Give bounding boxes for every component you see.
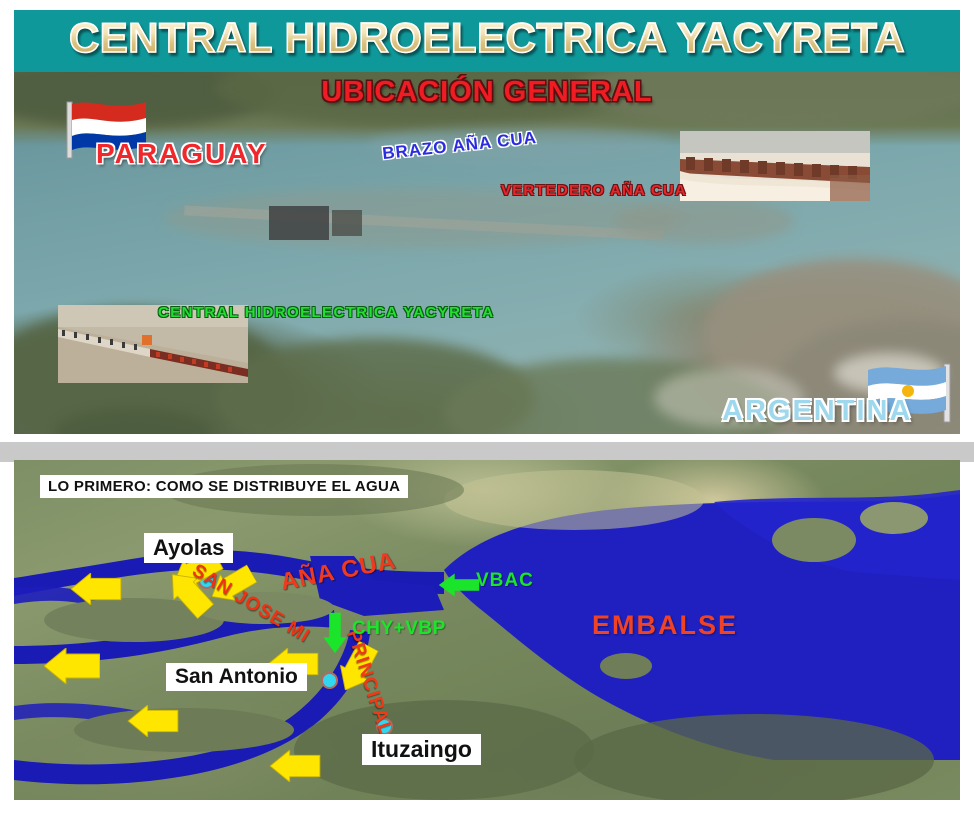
label-argentina: ARGENTINA (722, 395, 912, 428)
spillway-photo-art (680, 131, 870, 201)
arrow-vbac-left-icon (438, 572, 480, 598)
label-san-antonio: San Antonio (166, 663, 307, 691)
powerhouse-block (332, 210, 362, 236)
label-embalse: EMBALSE (592, 610, 738, 641)
flow-arrow-yellow (127, 705, 179, 737)
farmland-patch (444, 470, 704, 530)
bottom-distribution-panel: LO PRIMERO: COMO SE DISTRIBUYE EL AGUA A… (14, 460, 960, 800)
label-vbac: VBAC (476, 570, 534, 592)
reservoir-island (860, 502, 928, 534)
inset-photo-vertedero-ana-cua (680, 131, 870, 201)
label-ayolas: Ayolas (144, 533, 233, 563)
label-ituzaingo: Ituzaingo (362, 734, 481, 765)
reservoir-island (600, 653, 652, 679)
reservoir-island (772, 518, 856, 562)
label-vertedero-ana-cua: VERTEDERO AÑA CUA (501, 182, 687, 199)
flow-arrow-yellow (269, 750, 321, 782)
heading-distribucion-agua: LO PRIMERO: COMO SE DISTRIBUYE EL AGUA (40, 475, 408, 498)
spillway-texture (614, 198, 794, 244)
page-title: CENTRAL HIDROELECTRICA YACYRETA (14, 14, 960, 62)
presentation-slide: CENTRAL HIDROELECTRICA YACYRETA UBICACIÓ… (0, 0, 974, 822)
panel-divider (0, 442, 974, 462)
flow-arrow-yellow (70, 573, 122, 605)
label-chy-vbp: CHY+VBP (352, 618, 446, 640)
heading-ubicacion-general: UBICACIÓN GENERAL (14, 76, 960, 109)
label-paraguay: PARAGUAY (96, 138, 268, 170)
flow-arrow-yellow (44, 648, 100, 684)
water-network (14, 460, 960, 800)
top-satellite-panel: CENTRAL HIDROELECTRICA YACYRETA UBICACIÓ… (14, 10, 960, 434)
powerhouse-block (269, 206, 329, 240)
label-central-hidroelectrica-yacyreta: CENTRAL HIDROELECTRICA YACYRETA (158, 304, 494, 321)
sand-bar (74, 708, 294, 752)
